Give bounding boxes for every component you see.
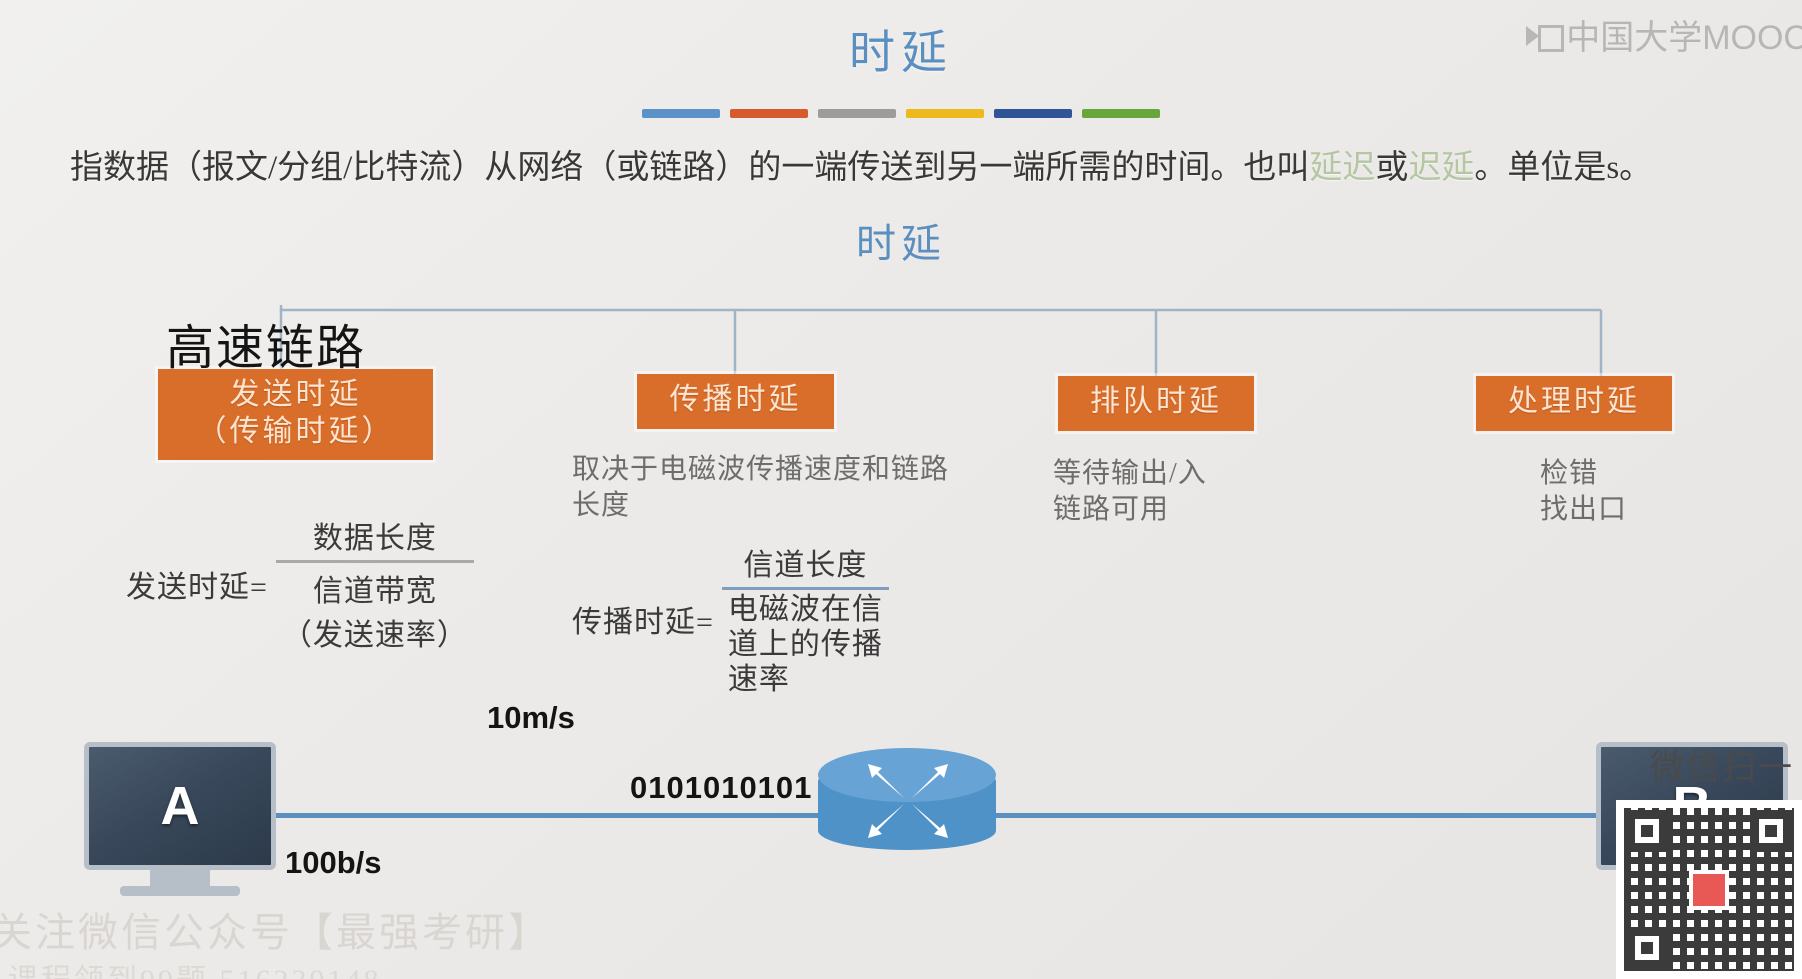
formula-propagation-delay-denominator-2: 道上的传播 xyxy=(722,628,889,663)
formula-send-delay-fraction: 数据长度 信道带宽 （发送速率） xyxy=(276,513,474,654)
rule-segment-3 xyxy=(818,109,896,118)
host-a-label: A xyxy=(84,742,276,870)
node-queuing-delay[interactable]: 排队时延 xyxy=(1058,376,1254,431)
fraction-bar xyxy=(276,560,474,563)
monitor-base xyxy=(120,886,240,896)
formula-propagation-delay-lhs: 传播时延= xyxy=(572,597,714,641)
rule-segment-5 xyxy=(994,109,1072,118)
qr-code-pattern xyxy=(1624,808,1794,971)
qr-center-logo xyxy=(1689,870,1729,910)
node-send-delay-line1: 发送时延 xyxy=(172,377,419,414)
qr-eye-top-right xyxy=(1750,810,1792,852)
annotation-bitstream: 0101010101 xyxy=(630,770,812,806)
fraction-bar xyxy=(722,587,889,590)
formula-send-delay: 发送时延= 数据长度 信道带宽 （发送速率） xyxy=(126,513,474,654)
formula-propagation-delay-fraction: 信道长度 电磁波在信 道上的传播 速率 xyxy=(722,540,889,697)
node-send-delay-line2: （传输时延） xyxy=(172,414,419,451)
qr-eye-top-left xyxy=(1626,810,1668,852)
formula-send-delay-denominator-2: （发送速率） xyxy=(276,610,474,654)
definition-part2: 。单位是s。 xyxy=(1474,150,1652,186)
watermark-line2: 课程领到99题 516239148 xyxy=(8,955,382,979)
formula-send-delay-denominator-1: 信道带宽 xyxy=(276,566,474,610)
definition-text: 指数据（报文/分组/比特流）从网络（或链路）的一端传送到另一端所需的时间。也叫延… xyxy=(70,140,1802,188)
qr-code[interactable] xyxy=(1616,800,1802,979)
formula-send-delay-numerator: 数据长度 xyxy=(276,513,474,557)
watermark-line1: 关注微信公众号【最强考研】 xyxy=(0,900,551,958)
desc-processing-delay: 检错 找出口 xyxy=(1540,456,1800,529)
router-icon[interactable] xyxy=(818,748,996,864)
desc-queuing-line1: 等待输出/入 xyxy=(1053,456,1353,492)
desc-queuing-line2: 链路可用 xyxy=(1053,492,1353,528)
node-send-delay[interactable]: 发送时延 （传输时延） xyxy=(158,369,433,460)
desc-propagation-delay: 取决于电磁波传播速度和链路长度 xyxy=(572,452,952,525)
router-arrows-icon xyxy=(858,758,958,844)
monitor-stand xyxy=(150,870,210,886)
formula-propagation-delay-denominator-1: 电磁波在信 xyxy=(722,593,889,628)
host-a[interactable]: A xyxy=(84,742,276,896)
desc-queuing-delay: 等待输出/入 链路可用 xyxy=(1053,456,1353,529)
rule-segment-1 xyxy=(642,109,720,118)
node-propagation-delay[interactable]: 传播时延 xyxy=(637,374,834,429)
node-processing-delay[interactable]: 处理时延 xyxy=(1476,376,1672,431)
definition-part1: 指数据（报文/分组/比特流）从网络（或链路）的一端传送到另一端所需的时间。也叫 xyxy=(70,150,1309,186)
annotation-propagation-speed: 10m/s xyxy=(487,700,575,736)
formula-propagation-delay: 传播时延= 信道长度 电磁波在信 道上的传播 速率 xyxy=(572,540,889,697)
node-propagation-delay-label: 传播时延 xyxy=(651,382,820,419)
link-a-to-router xyxy=(276,813,821,818)
mooc-logo-text: 中国大学MOOC xyxy=(1566,10,1802,59)
slide-canvas: 时延 中国大学MOOC 指数据（报文/分组/比特流）从网络（或链路）的一端传送到… xyxy=(0,0,1802,979)
node-processing-delay-label: 处理时延 xyxy=(1490,384,1658,421)
rule-segment-4 xyxy=(906,109,984,118)
wechat-scan-label: 微信扫一 xyxy=(1650,740,1794,789)
qr-eye-bottom-left xyxy=(1626,927,1668,969)
desc-processing-line2: 找出口 xyxy=(1540,492,1800,528)
mooc-logo: 中国大学MOOC xyxy=(1526,10,1802,59)
formula-propagation-delay-numerator: 信道长度 xyxy=(722,540,889,584)
formula-propagation-delay-denominator-3: 速率 xyxy=(722,663,889,698)
link-router-to-b xyxy=(995,813,1600,818)
node-queuing-delay-label: 排队时延 xyxy=(1072,384,1240,421)
rule-segment-2 xyxy=(730,109,808,118)
title-rule xyxy=(642,109,1160,118)
definition-highlight-2: 迟延 xyxy=(1408,150,1474,186)
desc-processing-line1: 检错 xyxy=(1540,456,1800,492)
mindmap-root-label: 时延 xyxy=(0,211,1802,269)
definition-middle: 或 xyxy=(1375,150,1408,186)
annotation-high-speed-link: 高速链路 xyxy=(166,308,366,378)
formula-send-delay-lhs: 发送时延= xyxy=(126,562,268,606)
definition-highlight-1: 延迟 xyxy=(1309,150,1375,186)
mooc-cube-icon xyxy=(1526,22,1560,48)
annotation-send-rate: 100b/s xyxy=(285,845,382,881)
rule-segment-6 xyxy=(1082,109,1160,118)
